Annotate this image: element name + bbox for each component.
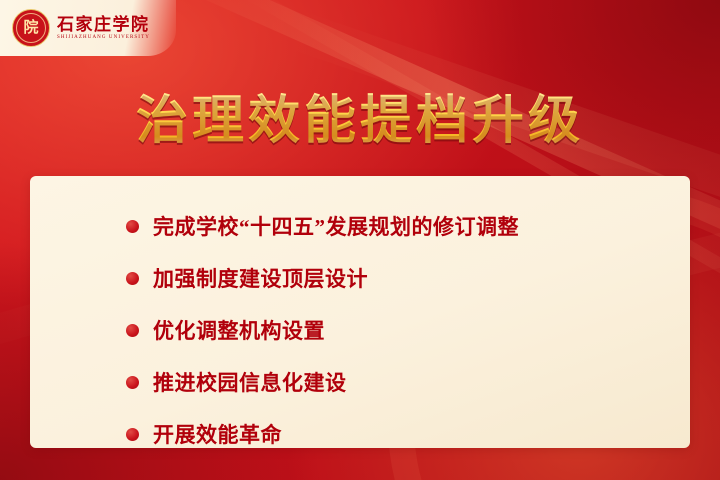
list-item: 推进校园信息化建设 — [30, 356, 690, 408]
bullet-dot-icon — [126, 324, 139, 337]
slide-title: 治理效能提档升级 — [0, 78, 720, 153]
bullet-dot-icon — [126, 220, 139, 233]
university-name-en: SHIJIAZHUANG UNIVERSITY — [57, 35, 150, 40]
bullet-list: 完成学校“十四五”发展规划的修订调整 加强制度建设顶层设计 优化调整机构设置 推… — [30, 192, 690, 460]
list-item-label: 开展效能革命 — [153, 419, 282, 449]
list-item: 开展效能革命 — [30, 408, 690, 460]
emblem-glyph: 院 — [23, 21, 38, 36]
university-logo: 院 石家庄学院 SHIJIAZHUANG UNIVERSITY — [0, 0, 176, 56]
bullet-dot-icon — [126, 376, 139, 389]
logo-text-block: 石家庄学院 SHIJIAZHUANG UNIVERSITY — [57, 16, 150, 41]
university-name-cn: 石家庄学院 — [57, 16, 150, 34]
list-item-label: 推进校园信息化建设 — [153, 367, 347, 397]
bullet-dot-icon — [126, 272, 139, 285]
list-item-label: 完成学校“十四五”发展规划的修订调整 — [153, 211, 519, 241]
content-card: 完成学校“十四五”发展规划的修订调整 加强制度建设顶层设计 优化调整机构设置 推… — [30, 176, 690, 448]
list-item: 优化调整机构设置 — [30, 304, 690, 356]
list-item-label: 优化调整机构设置 — [153, 315, 325, 345]
slide: 院 石家庄学院 SHIJIAZHUANG UNIVERSITY 治理效能提档升级… — [0, 0, 720, 480]
bullet-dot-icon — [126, 428, 139, 441]
list-item: 加强制度建设顶层设计 — [30, 252, 690, 304]
list-item: 完成学校“十四五”发展规划的修订调整 — [30, 200, 690, 252]
university-emblem-icon: 院 — [12, 9, 50, 47]
list-item-label: 加强制度建设顶层设计 — [153, 263, 368, 293]
